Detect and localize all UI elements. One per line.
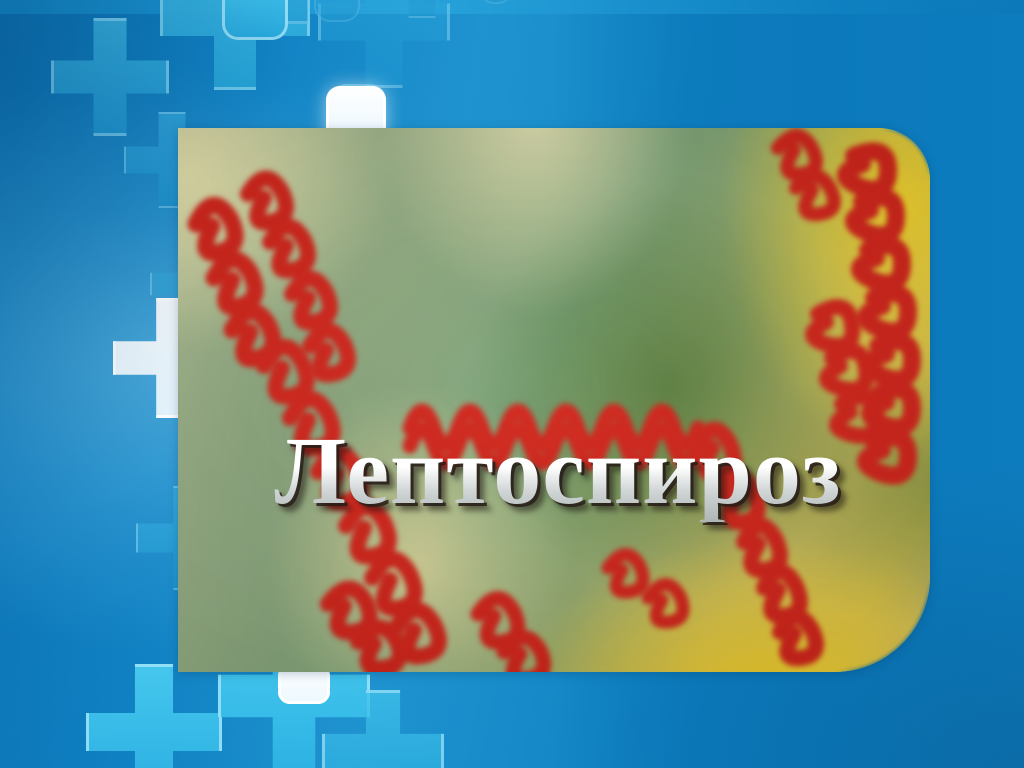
- leptospira-micrograph-image: [178, 128, 930, 672]
- micrograph-depth-blur: [178, 128, 930, 672]
- presentation-slide: Лептоспироз: [0, 0, 1024, 768]
- slide-title: Лептоспироз: [178, 420, 938, 522]
